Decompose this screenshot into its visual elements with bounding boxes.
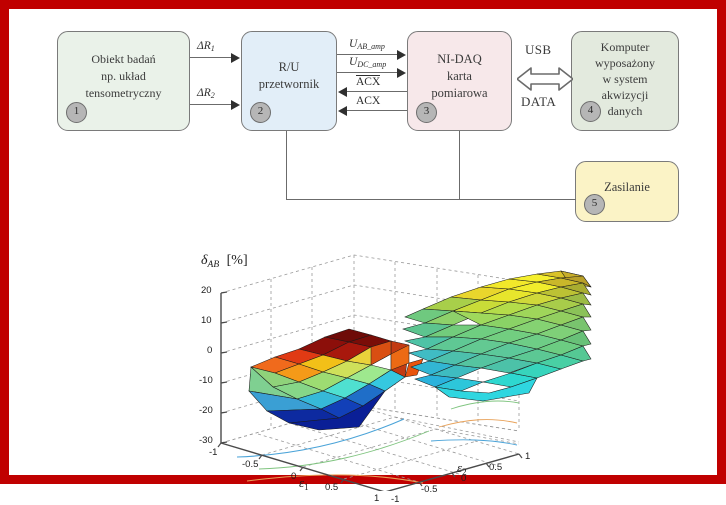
dr1-sub: 1 xyxy=(211,44,215,53)
plot-ylabel: ε2 xyxy=(457,460,467,477)
data-label: DATA xyxy=(521,94,556,110)
arrowhead-udc xyxy=(397,68,406,78)
z-tick-10: 10 xyxy=(201,315,212,326)
block-2-line-2: przetwornik xyxy=(242,77,336,92)
arrowhead-acx xyxy=(338,106,347,116)
signal-label-dr1: ΔR1 xyxy=(197,40,215,53)
x-tick-0: 0 xyxy=(291,471,296,482)
signal-label-acx-bar: ACX xyxy=(356,75,380,88)
signal-label-dr2: ΔR2 xyxy=(197,87,215,100)
y-tick-05: 0.5 xyxy=(489,462,502,473)
arrowhead-uab xyxy=(397,50,406,60)
plot-z-ticks xyxy=(221,292,227,443)
block-komputer: Komputer wyposażony w system akwizycji d… xyxy=(571,31,679,131)
surface-right-lobe xyxy=(403,271,591,401)
line-udc xyxy=(337,72,400,73)
block-2-number: 2 xyxy=(250,102,271,123)
block-4-line-3: w system xyxy=(572,73,678,87)
block-ni-daq: NI-DAQ karta pomiarowa 3 xyxy=(407,31,512,131)
dr2-sub: 2 xyxy=(211,91,215,100)
usb-data-double-arrow-icon xyxy=(517,65,573,93)
block-1-number: 1 xyxy=(66,102,87,123)
block-4-number: 4 xyxy=(580,101,601,122)
y-tick-m05: -0.5 xyxy=(421,484,437,495)
block-5-number: 5 xyxy=(584,194,605,215)
arrowhead-dr2 xyxy=(231,100,240,110)
block-obiekt-badan: Obiekt badań np. układ tensometryczny 1 xyxy=(57,31,190,131)
block-3-line-2: karta xyxy=(408,69,511,84)
line-dr2 xyxy=(190,104,234,105)
block-3-line-3: pomiarowa xyxy=(408,86,511,101)
z-tick-m20: -20 xyxy=(199,405,213,416)
line-uab xyxy=(337,54,400,55)
block-5-line-1: Zasilanie xyxy=(576,180,678,195)
power-line-from-block2 xyxy=(286,131,287,199)
arrowhead-acx-bar xyxy=(338,87,347,97)
block-3-line-1: NI-DAQ xyxy=(408,52,511,67)
block-1-line-1: Obiekt badań xyxy=(58,53,189,67)
arrowhead-dr1 xyxy=(231,53,240,63)
usb-label: USB xyxy=(525,42,552,58)
x-tick-m05: -0.5 xyxy=(242,459,258,470)
block-2-line-1: R/U xyxy=(242,60,336,75)
signal-label-uab: UAB_amp xyxy=(349,38,385,51)
power-bus-line xyxy=(286,199,576,200)
zlabel-unit: [%] xyxy=(223,253,248,268)
line-acx xyxy=(347,110,407,111)
zlabel-sub: AB xyxy=(208,260,220,270)
uab-sub: AB_amp xyxy=(357,42,385,51)
z-tick-m30: -30 xyxy=(199,435,213,446)
line-dr1 xyxy=(190,57,234,58)
block-1-line-2: np. układ xyxy=(58,70,189,84)
plot-svg xyxy=(199,241,629,491)
ylabel-sub: 2 xyxy=(462,467,467,477)
block-1-line-3: tensometryczny xyxy=(58,87,189,101)
z-tick-0: 0 xyxy=(207,345,212,356)
acx-bar-text: ACX xyxy=(356,75,380,88)
acx-text: ACX xyxy=(356,95,380,107)
block-zasilanie: Zasilanie 5 xyxy=(575,161,679,222)
signal-label-udc: UDC_amp xyxy=(349,56,386,69)
block-ru-przetwornik: R/U przetwornik 2 xyxy=(241,31,337,131)
udc-sub: DC_amp xyxy=(357,60,386,69)
figure-frame: Obiekt badań np. układ tensometryczny 1 … xyxy=(0,0,726,484)
y-tick-m1: -1 xyxy=(391,494,399,505)
x-tick-m1: -1 xyxy=(209,447,217,458)
signal-label-acx: ACX xyxy=(356,95,380,107)
figure-canvas: Obiekt badań np. układ tensometryczny 1 … xyxy=(9,9,717,475)
plot-zlabel: δAB [%] xyxy=(201,253,248,270)
block-3-number: 3 xyxy=(416,102,437,123)
line-acx-bar xyxy=(347,91,407,92)
block-4-line-2: wyposażony xyxy=(572,57,678,71)
block-4-line-1: Komputer xyxy=(572,41,678,55)
z-tick-m10: -10 xyxy=(199,375,213,386)
dr2-text: ΔR xyxy=(197,87,211,99)
z-tick-20: 20 xyxy=(201,285,212,296)
y-tick-1: 1 xyxy=(525,451,530,462)
x-tick-1: 1 xyxy=(374,493,379,504)
dr1-text: ΔR xyxy=(197,40,211,52)
surface-plot: δAB [%] xyxy=(199,241,629,491)
power-line-from-block3 xyxy=(459,131,460,199)
